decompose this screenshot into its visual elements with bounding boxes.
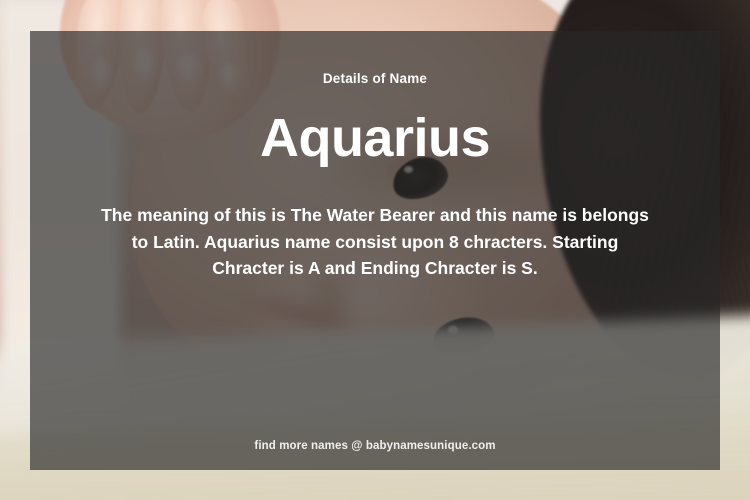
name-title: Aquarius — [260, 110, 490, 167]
name-card: Details of Name Aquarius The meaning of … — [0, 0, 750, 500]
name-description: The meaning of this is The Water Bearer … — [95, 202, 655, 282]
footer-attribution: find more names @ babynamesunique.com — [30, 440, 720, 452]
overlay-panel: Details of Name Aquarius The meaning of … — [30, 31, 720, 470]
card-kicker: Details of Name — [323, 72, 427, 86]
